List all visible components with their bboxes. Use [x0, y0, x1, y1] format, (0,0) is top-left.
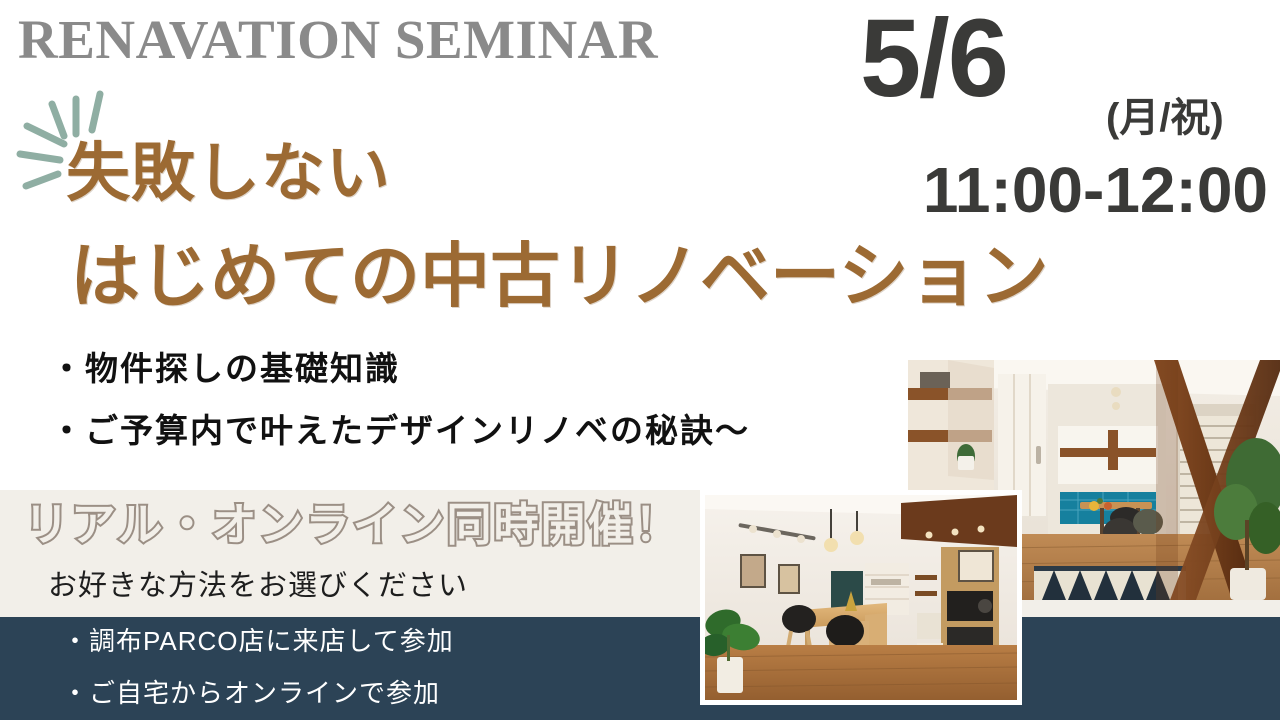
headline-line-1: 失敗しない: [66, 140, 391, 207]
attendance-option-item: ・調布PARCO店に来店して参加: [62, 628, 622, 654]
attendance-option-list: ・調布PARCO店に来店して参加 ・ご自宅からオンラインで参加: [62, 628, 622, 720]
attendance-subtitle: お好きな方法をお選びください: [48, 572, 468, 601]
topic-item: ・ご予算内で叶えたデザインリノベの秘訣〜: [50, 414, 910, 447]
photo-open-kitchen: [700, 490, 1022, 705]
date-time: 11:00-12:00: [840, 158, 1280, 222]
attendance-title: リアル・オンライン同時開催！: [24, 502, 682, 547]
topic-item: ・物件探しの基礎知識: [50, 352, 910, 385]
topic-list: ・物件探しの基礎知識 ・ご予算内で叶えたデザインリノベの秘訣〜: [50, 352, 910, 476]
date-day: 5/6: [860, 4, 1007, 114]
headline-line-2: はじめての中古リノベーション: [70, 240, 1049, 314]
date-block: 5/6 (月/祝): [860, 10, 1270, 130]
seminar-banner: RENAVATION SEMINAR 5/6 (月/祝) 11:00-12:00…: [0, 0, 1280, 720]
page-title: RENAVATION SEMINAR: [18, 12, 658, 67]
attendance-option-item: ・ご自宅からオンラインで参加: [62, 680, 622, 706]
date-day-of-week: (月/祝): [1106, 98, 1224, 138]
